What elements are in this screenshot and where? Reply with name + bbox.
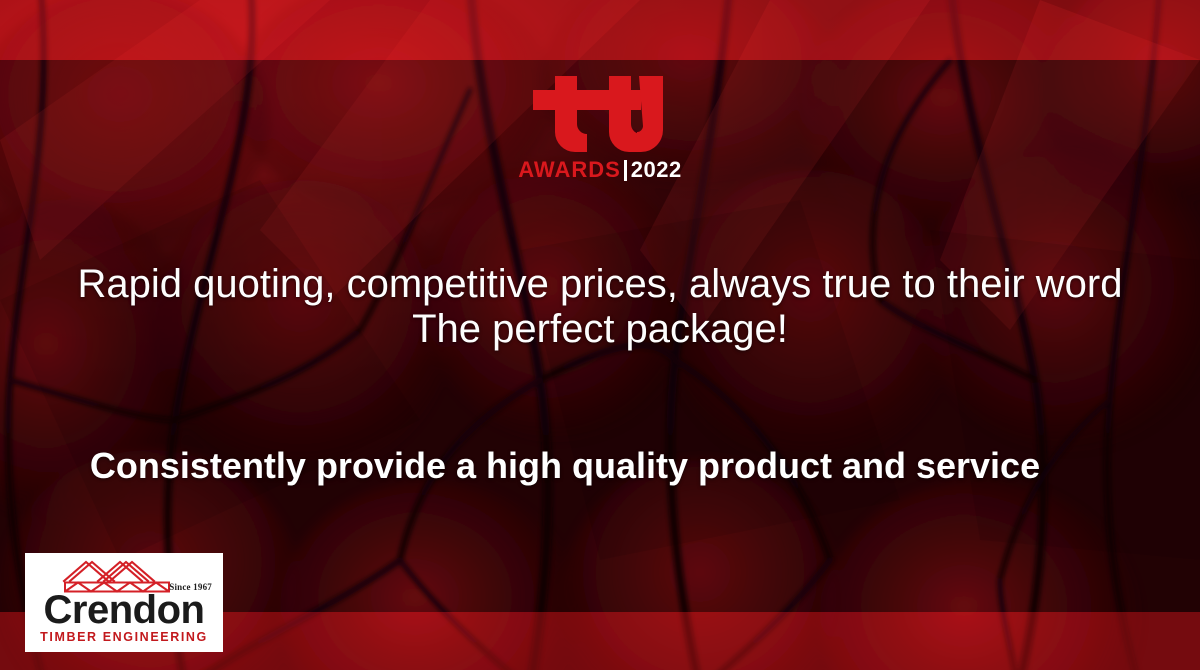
quote-primary-line-2: The perfect package! — [60, 307, 1140, 352]
crendon-tagline: TIMBER ENGINEERING — [34, 630, 214, 644]
quote-secondary: Consistently provide a high quality prod… — [60, 445, 1070, 486]
roof-truss-icon — [62, 559, 174, 593]
crendon-logo-top: Since 1967 — [34, 559, 214, 593]
crendon-logo-card: Since 1967 Crendon TIMBER ENGINEERING — [25, 553, 223, 652]
crendon-since-label: Since 1967 — [169, 582, 212, 592]
quote-primary: Rapid quoting, competitive prices, alway… — [60, 262, 1140, 352]
crendon-brand-name: Crendon — [34, 591, 214, 629]
quote-secondary-line-1: Consistently provide a high quality prod… — [60, 445, 1070, 486]
quote-primary-line-1: Rapid quoting, competitive prices, alway… — [60, 262, 1140, 307]
presentation-slide: AWARDS 2022 Rapid quoting, competitive p… — [0, 0, 1200, 670]
